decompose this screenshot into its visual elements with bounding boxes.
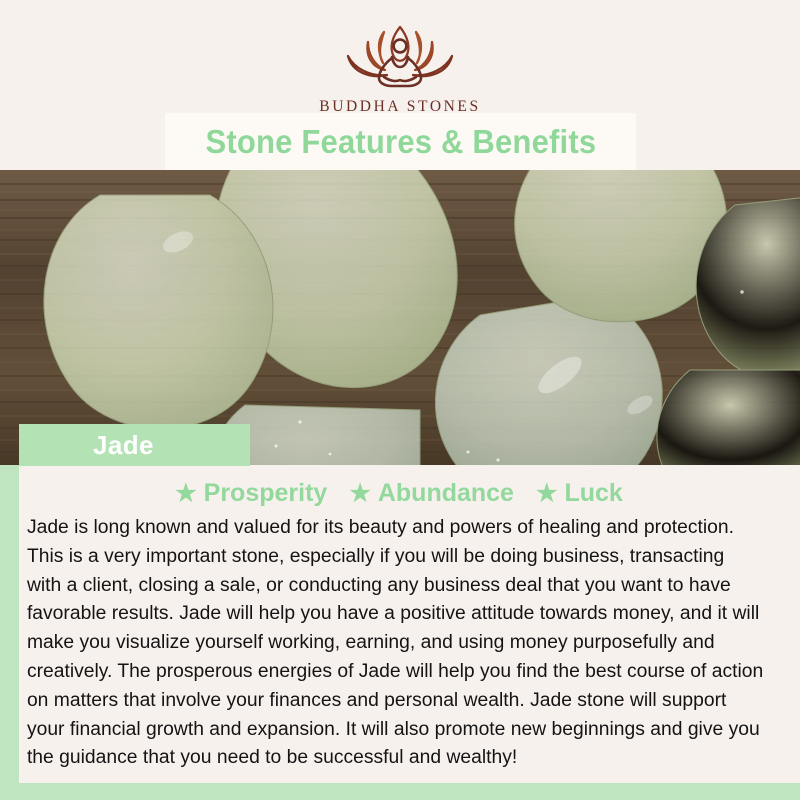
benefit-item: ★ Luck [536, 479, 623, 508]
content-section: ★ Prosperity ★ Abundance ★ Luck Jade is … [19, 465, 783, 783]
infographic-card: BUDDHA STONES [0, 0, 800, 800]
stone-name-band: Jade [19, 424, 250, 466]
lotus-meditation-icon [332, 22, 468, 92]
star-icon: ★ [175, 482, 197, 506]
brand-logo: BUDDHA STONES [0, 22, 800, 116]
decor-bar-bottom [0, 783, 800, 800]
benefits-row: ★ Prosperity ★ Abundance ★ Luck [23, 479, 775, 508]
banner-panel: Stone Features & Benefits [165, 113, 636, 170]
stone-photo-art [0, 170, 800, 465]
stone-photo [0, 170, 800, 465]
star-icon: ★ [536, 482, 558, 506]
page-title: Stone Features & Benefits [205, 123, 596, 161]
benefit-label: Prosperity [204, 479, 328, 508]
benefit-item: ★ Abundance [349, 479, 514, 508]
benefit-label: Abundance [378, 479, 514, 508]
benefit-label: Luck [564, 479, 622, 508]
stone-name: Jade [93, 430, 154, 461]
star-icon: ★ [349, 482, 371, 506]
stone-description: Jade is long known and valued for its be… [23, 513, 764, 772]
benefit-item: ★ Prosperity [175, 479, 327, 508]
